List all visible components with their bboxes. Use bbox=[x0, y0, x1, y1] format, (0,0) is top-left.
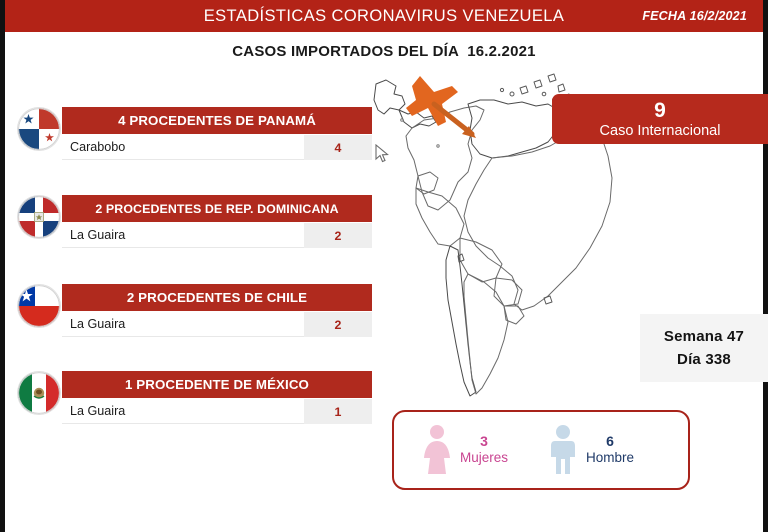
country-block-dominican-republic: 2 PROCEDENTES DE REP. DOMINICANA La Guai… bbox=[0, 188, 380, 258]
week-label: Semana 47 bbox=[664, 328, 744, 345]
international-cases-label: Caso Internacional bbox=[600, 124, 721, 139]
gender-breakdown-card: 3 Mujeres 6 Hombre bbox=[392, 410, 690, 490]
country-bar-label-mexico: 1 PROCEDENTE DE MÉXICO bbox=[62, 371, 372, 398]
right-edge-border bbox=[763, 0, 768, 532]
gender-men-text: 6 Hombre bbox=[586, 433, 634, 467]
women-count: 3 bbox=[480, 433, 488, 451]
international-cases-count: 9 bbox=[654, 100, 666, 121]
gender-men-group: 6 Hombre bbox=[546, 424, 634, 476]
female-figure-icon bbox=[420, 424, 454, 476]
country-bar-label-dominican-republic: 2 PROCEDENTES DE REP. DOMINICANA bbox=[62, 195, 372, 222]
day-label: Día 338 bbox=[677, 351, 731, 368]
country-bar-label-panama: 4 PROCEDENTES DE PANAMÁ bbox=[62, 107, 372, 134]
header-banner: ESTADÍSTICAS CORONAVIRUS VENEZUELA FECHA… bbox=[5, 0, 763, 32]
flag-mexico-icon bbox=[18, 372, 60, 414]
gender-women-text: 3 Mujeres bbox=[460, 433, 508, 467]
period-panel: Semana 47 Día 338 bbox=[640, 314, 768, 382]
state-count: 2 bbox=[304, 223, 372, 248]
country-block-panama: 4 PROCEDENTES DE PANAMÁ Carabobo 4 bbox=[0, 100, 380, 170]
country-block-mexico: 1 PROCEDENTE DE MÉXICO La Guaira 1 bbox=[0, 364, 380, 434]
country-bar-label-chile: 2 PROCEDENTES DE CHILE bbox=[62, 284, 372, 311]
state-count: 4 bbox=[304, 135, 372, 160]
flag-panama-icon bbox=[18, 108, 60, 150]
flag-dominican-republic-icon bbox=[18, 196, 60, 238]
table-row-dominican-republic: La Guaira 2 bbox=[62, 223, 372, 248]
women-label: Mujeres bbox=[460, 450, 508, 467]
left-edge-border bbox=[0, 0, 5, 532]
table-row-mexico: La Guaira 1 bbox=[62, 399, 372, 424]
men-label: Hombre bbox=[586, 450, 634, 467]
plane-arrow-group bbox=[390, 64, 520, 144]
gender-women-group: 3 Mujeres bbox=[420, 424, 508, 476]
state-name: La Guaira bbox=[62, 223, 304, 248]
state-name: La Guaira bbox=[62, 312, 304, 337]
state-count: 1 bbox=[304, 399, 372, 424]
country-block-chile: 2 PROCEDENTES DE CHILE La Guaira 2 bbox=[0, 277, 380, 347]
header-date: FECHA 16/2/2021 bbox=[642, 0, 747, 32]
male-figure-icon bbox=[546, 424, 580, 476]
table-row-panama: Carabobo 4 bbox=[62, 135, 372, 160]
slide-canvas: ESTADÍSTICAS CORONAVIRUS VENEZUELA FECHA… bbox=[0, 0, 768, 532]
state-name: Carabobo bbox=[62, 135, 304, 160]
international-cases-card: 9 Caso Internacional bbox=[552, 94, 768, 144]
state-count: 2 bbox=[304, 312, 372, 337]
flag-chile-icon bbox=[18, 285, 60, 327]
men-count: 6 bbox=[606, 433, 614, 451]
state-name: La Guaira bbox=[62, 399, 304, 424]
table-row-chile: La Guaira 2 bbox=[62, 312, 372, 337]
